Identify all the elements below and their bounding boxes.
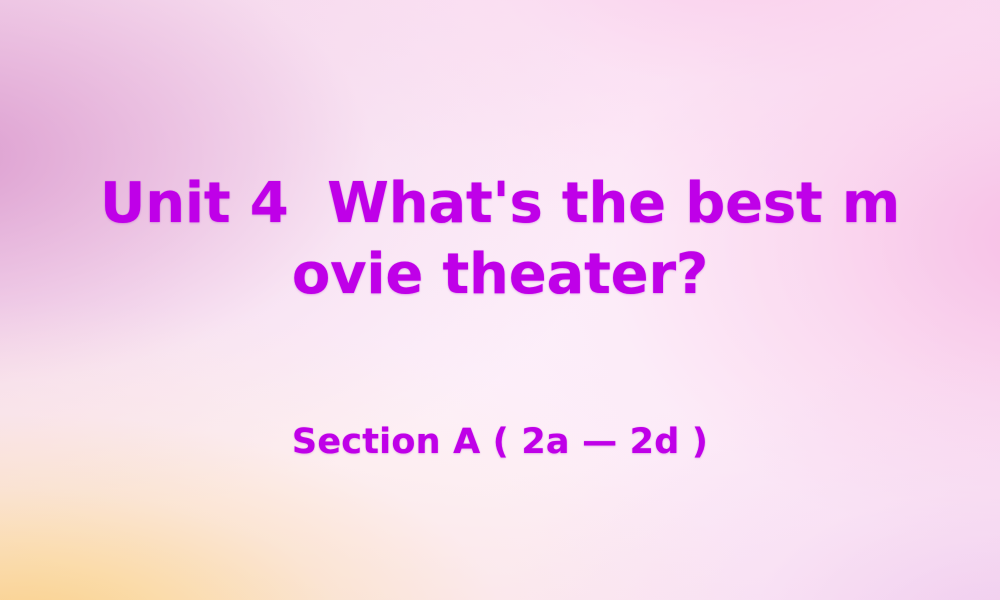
slide-subtitle: Section A ( 2a — 2d ) [0, 419, 1000, 465]
slide-title-line-1: Unit 4 What's the best m [0, 168, 1000, 239]
slide-content: Unit 4 What's the best m ovie theater? S… [0, 0, 1000, 600]
slide-title-line-2: ovie theater? [0, 239, 1000, 310]
presentation-slide: Unit 4 What's the best m ovie theater? S… [0, 0, 1000, 600]
slide-title: Unit 4 What's the best m ovie theater? [0, 168, 1000, 310]
slide-subtitle-text: Section A ( 2a — 2d ) [292, 419, 708, 465]
